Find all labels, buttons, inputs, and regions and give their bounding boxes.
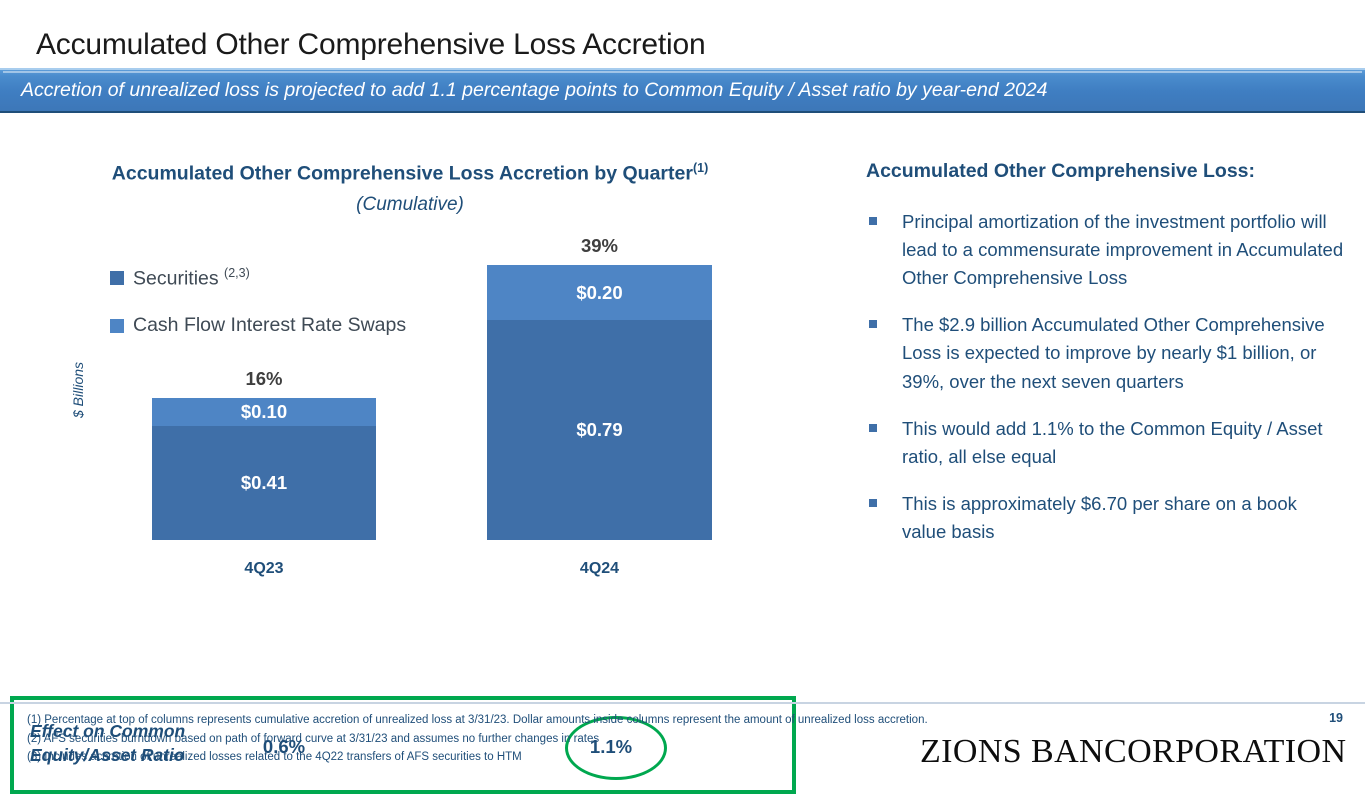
bar-total-label-4q23: 16%: [152, 368, 376, 390]
bullet-square-icon: [869, 499, 877, 507]
page-number: 19: [1329, 711, 1343, 725]
page-title: Accumulated Other Comprehensive Loss Acc…: [36, 28, 705, 62]
bullet-item: This is approximately $6.70 per share on…: [866, 490, 1346, 546]
side-text-panel: Accumulated Other Comprehensive Loss: Pr…: [866, 160, 1346, 565]
bullet-item: The $2.9 billion Accumulated Other Compr…: [866, 311, 1346, 395]
footnote: (1) Percentage at top of columns represe…: [27, 711, 1097, 730]
bar-segment-securities-4q24: $0.79: [487, 320, 712, 540]
bullet-square-icon: [869, 424, 877, 432]
chart-plot-area: 16%$0.10$0.414Q23 39%$0.20$0.794Q24: [0, 118, 815, 588]
subtitle-banner: Accretion of unrealized loss is projecte…: [0, 68, 1365, 113]
footer-divider: [0, 702, 1365, 704]
chart-panel: Accumulated Other Comprehensive Loss Acc…: [0, 118, 815, 688]
bullet-item: This would add 1.1% to the Common Equity…: [866, 415, 1346, 471]
bar-segment-swaps-4q23: $0.10: [152, 398, 376, 426]
zions-bancorporation-logo: ZIONS BANCORPORATION: [920, 733, 1346, 771]
bullet-text: The $2.9 billion Accumulated Other Compr…: [902, 311, 1346, 395]
bar-segment-value: $0.41: [241, 472, 287, 494]
bullet-square-icon: [869, 320, 877, 328]
bar-segment-value: $0.79: [576, 419, 622, 441]
bullet-text: Principal amortization of the investment…: [902, 208, 1346, 292]
bullet-text: This is approximately $6.70 per share on…: [902, 490, 1346, 546]
bar-category-label-4q23: 4Q23: [152, 560, 376, 578]
bar-segment-value: $0.20: [576, 282, 622, 304]
bullet-item: Principal amortization of the investment…: [866, 208, 1346, 292]
bullet-square-icon: [869, 217, 877, 225]
subtitle-banner-text: Accretion of unrealized loss is projecte…: [0, 79, 1048, 102]
bar-segment-value: $0.10: [241, 401, 287, 423]
bar-total-label-4q24: 39%: [487, 235, 712, 257]
bullet-list: Principal amortization of the investment…: [866, 208, 1346, 546]
bar-category-label-4q24: 4Q24: [487, 560, 712, 578]
bar-segment-swaps-4q24: $0.20: [487, 265, 712, 321]
bullet-text: This would add 1.1% to the Common Equity…: [902, 415, 1346, 471]
side-panel-heading: Accumulated Other Comprehensive Loss:: [866, 160, 1346, 183]
bar-segment-securities-4q23: $0.41: [152, 426, 376, 540]
